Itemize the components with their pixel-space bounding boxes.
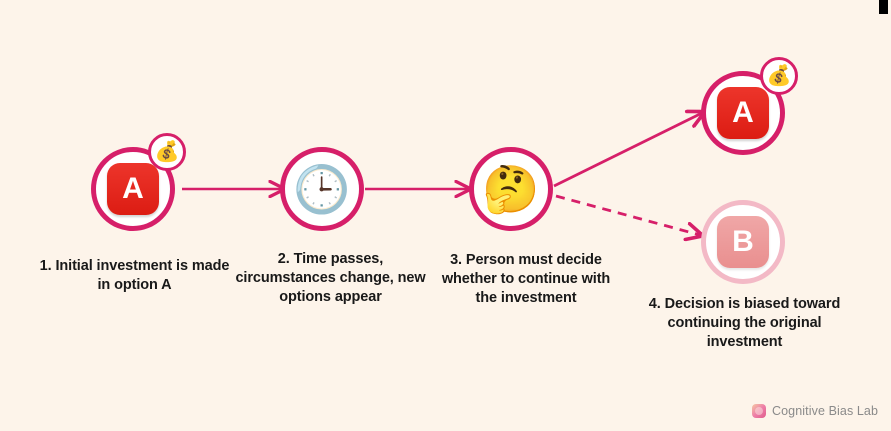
node-outcome-b[interactable]: B — [701, 200, 785, 284]
footer-watermark-label: Cognitive Bias Lab — [772, 404, 878, 418]
node-decision-point[interactable]: 🤔 — [469, 147, 553, 231]
caption-step-4: 4. Decision is biased toward continuing … — [637, 295, 852, 352]
caption-step-1: 1. Initial investment is made in option … — [32, 257, 237, 295]
clock-icon: 🕒 — [293, 166, 350, 212]
thinking-face-icon: 🤔 — [482, 166, 539, 212]
letter-a-tile-icon: A — [107, 163, 159, 215]
caption-step-3: 3. Person must decide whether to continu… — [431, 251, 621, 308]
connector-node3-node4b — [556, 196, 700, 235]
money-bag-badge-outcome: 💰 — [760, 57, 798, 95]
money-bag-badge-initial: 💰 — [148, 133, 186, 171]
node-time-passes[interactable]: 🕒 — [280, 147, 364, 231]
cognitive-bias-lab-logo-icon — [752, 404, 766, 418]
money-bag-icon: 💰 — [767, 66, 792, 86]
footer-watermark: Cognitive Bias Lab — [752, 404, 878, 418]
money-bag-icon: 💰 — [155, 142, 180, 162]
letter-b-tile-icon: B — [717, 216, 769, 268]
diagram-canvas: A 💰 🕒 🤔 A 💰 B 1. Initial investment is m… — [0, 0, 891, 431]
connector-node3-node4a — [554, 113, 702, 186]
letter-a-tile-icon: A — [717, 87, 769, 139]
caption-step-2: 2. Time passes, circumstances change, ne… — [228, 250, 433, 307]
